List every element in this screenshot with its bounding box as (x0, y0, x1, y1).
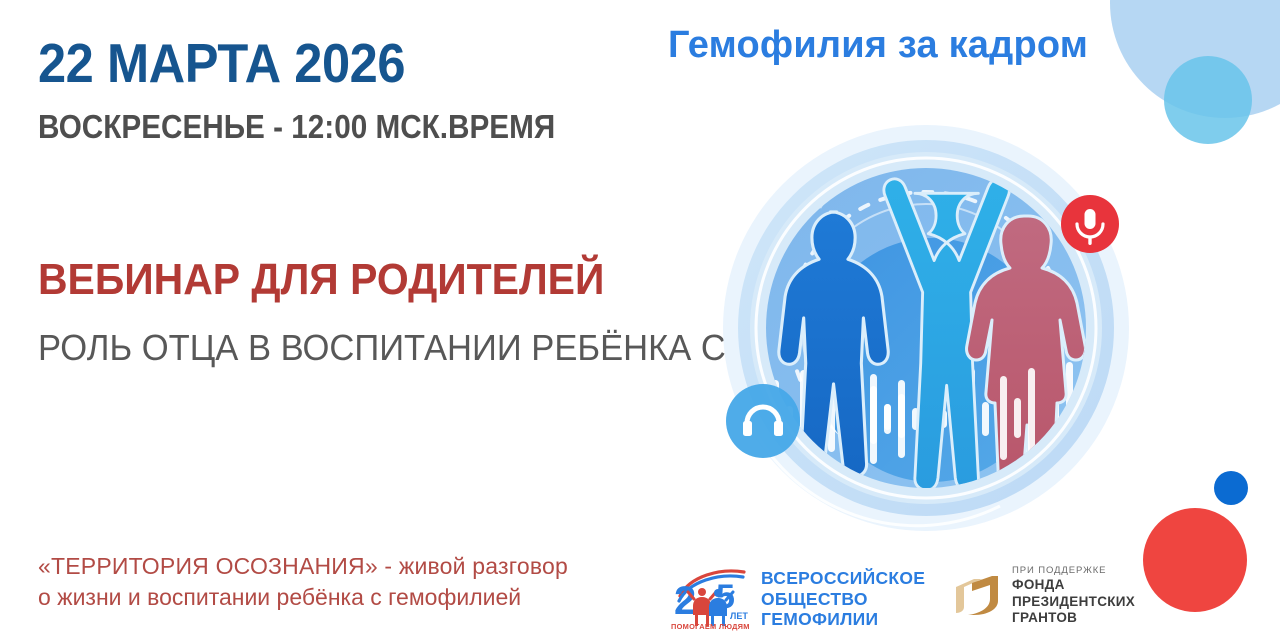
decor-circle-bottom-right-red (1143, 508, 1247, 612)
webinar-poster: Гемофилия за кадром 22 МАРТА 2026 ВОСКРЕ… (0, 0, 1280, 640)
vog-emblem-25-years: 2 5 ЛЕТ ПОМОГАЕМ ЛЮДЯМ (668, 566, 752, 632)
headphones-badge (726, 384, 800, 458)
microphone-badge (1061, 195, 1119, 253)
svg-text:2: 2 (674, 579, 696, 623)
podcast-illustration (700, 118, 1152, 538)
logo-fpg: ПРИ ПОДДЕРЖКЕ ФОНДА ПРЕЗИДЕНТСКИХ ГРАНТО… (952, 565, 1135, 626)
decor-dot-bottom-right-blue (1214, 471, 1248, 505)
poster-headline: ВЕБИНАР ДЛЯ РОДИТЕЛЕЙ (38, 258, 604, 302)
fpg-emblem-icon (952, 573, 1002, 619)
decor-circle-top-right-small (1164, 56, 1252, 144)
vog-name: ВСЕРОССИЙСКОЕ ОБЩЕСТВО ГЕМОФИЛИИ (761, 568, 925, 630)
program-title: Гемофилия за кадром (668, 24, 1088, 67)
event-weekday-time: ВОСКРЕСЕНЬЕ - 12:00 МСК.ВРЕМЯ (38, 110, 555, 143)
emblem-years-label: ЛЕТ (730, 611, 748, 621)
emblem-slogan: ПОМОГАЕМ ЛЮДЯМ (671, 622, 750, 631)
fpg-fund-name: ФОНДА ПРЕЗИДЕНТСКИХ ГРАНТОВ (1012, 577, 1135, 626)
event-date: 22 МАРТА 2026 (38, 36, 405, 91)
left-text-column: 22 МАРТА 2026 ВОСКРЕСЕНЬЕ - 12:00 МСК.ВР… (38, 0, 638, 640)
logo-vog: 2 5 ЛЕТ ПОМОГАЕМ ЛЮДЯМ ВСЕРОССИЙСКОЕ ОБЩ… (668, 566, 925, 632)
fpg-text: ПРИ ПОДДЕРЖКЕ ФОНДА ПРЕЗИДЕНТСКИХ ГРАНТО… (1012, 565, 1135, 626)
decor-circle-top-right-large (1110, 0, 1280, 118)
poster-tagline: «ТЕРРИТОРИЯ ОСОЗНАНИЯ» - живой разговор … (38, 551, 568, 612)
tagline-line-2: о жизни и воспитании ребёнка с гемофилие… (38, 582, 568, 613)
fpg-support-label: ПРИ ПОДДЕРЖКЕ (1012, 565, 1135, 576)
tagline-line-1: «ТЕРРИТОРИЯ ОСОЗНАНИЯ» - живой разговор (38, 551, 568, 582)
